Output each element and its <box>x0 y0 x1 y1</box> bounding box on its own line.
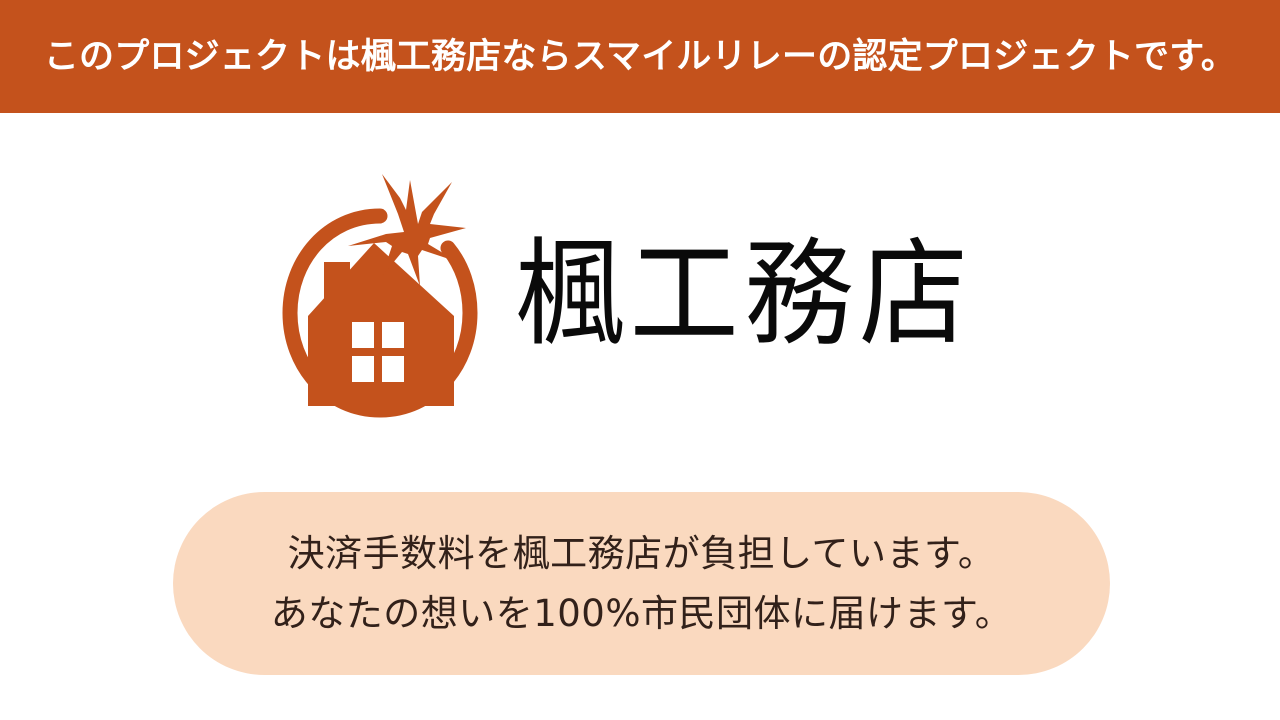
callout-line-2: あなたの想いを100%市民団体に届けます。 <box>271 584 1013 644</box>
brand-logo-block: 楓工務店 <box>0 113 1280 493</box>
kaede-logo-mark <box>278 170 483 420</box>
brand-wordmark: 楓工務店 <box>515 237 974 353</box>
certification-banner: このプロジェクトは楓工務店ならスマイルリレーの認定プロジェクトです。 <box>0 0 1280 113</box>
fee-coverage-callout: 決済手数料を楓工務店が負担しています。 あなたの想いを100%市民団体に届けます… <box>173 492 1110 675</box>
callout-line-1: 決済手数料を楓工務店が負担しています。 <box>288 524 996 584</box>
page-root: このプロジェクトは楓工務店ならスマイルリレーの認定プロジェクトです。 <box>0 0 1280 720</box>
brand-logo-lockup: 楓工務店 <box>278 170 1003 420</box>
certification-banner-text: このプロジェクトは楓工務店ならスマイルリレーの認定プロジェクトです。 <box>44 39 1236 74</box>
house-icon <box>308 243 454 406</box>
